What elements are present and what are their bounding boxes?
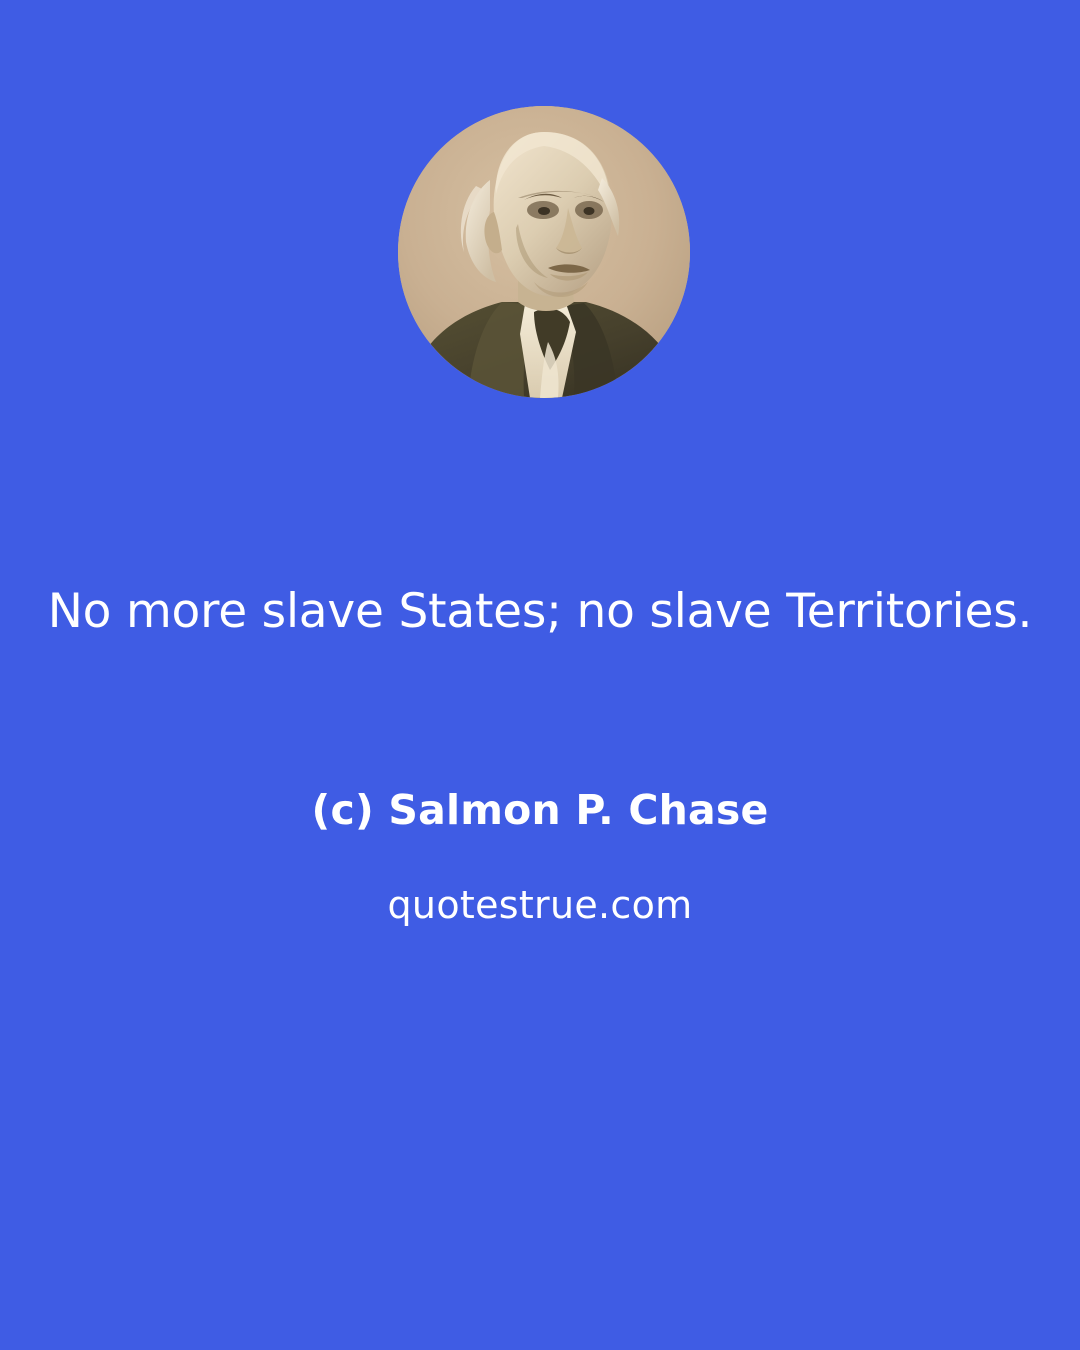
author-attribution: (c) Salmon P. Chase <box>0 784 1080 836</box>
salmon-p-chase-portrait-image <box>398 106 690 398</box>
quote-card: No more slave States; no slave Territori… <box>0 0 1080 1350</box>
avatar <box>398 106 690 398</box>
quote-text: No more slave States; no slave Territori… <box>0 583 1080 641</box>
source-website: quotestrue.com <box>0 880 1080 930</box>
